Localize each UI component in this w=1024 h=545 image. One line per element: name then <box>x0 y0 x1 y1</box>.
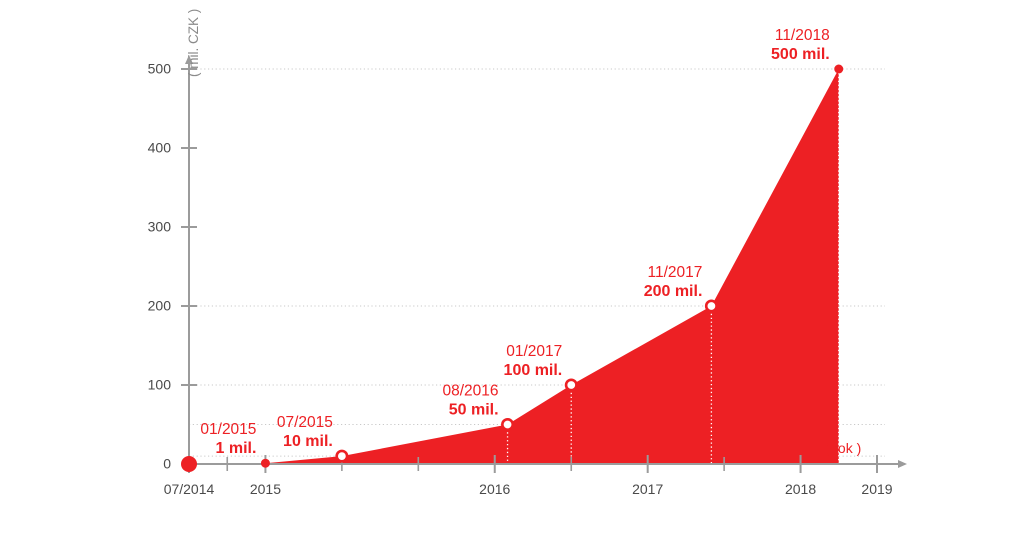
x-tick-label-2015: 2015 <box>250 481 281 497</box>
point-label-value-11-2018: 500 mil. <box>771 46 830 63</box>
data-point-01-2015[interactable] <box>261 459 270 468</box>
point-label-value-07-2015: 10 mil. <box>283 433 333 450</box>
point-label-value-11-2017: 200 mil. <box>644 283 703 300</box>
point-label-value-08-2016: 50 mil. <box>449 402 499 419</box>
revenue-growth-chart: 0100200300400500 07/20142015201620172018… <box>0 0 1024 545</box>
y-tick-label-200: 200 <box>148 298 172 314</box>
x-tick-label-2016: 2016 <box>479 481 510 497</box>
x-axis-arrow-icon <box>898 460 907 468</box>
data-point-07-2014[interactable] <box>181 456 197 472</box>
point-label-date-11-2018: 11/2018 <box>775 27 830 44</box>
y-tick-label-500: 500 <box>148 61 172 77</box>
y-tick-label-300: 300 <box>148 219 172 235</box>
x-axis-title: ( rok ) <box>825 440 862 456</box>
data-point-01-2017[interactable] <box>566 380 576 390</box>
y-tick-label-100: 100 <box>148 377 172 393</box>
data-point-11-2017[interactable] <box>706 301 716 311</box>
data-point-11-2018[interactable] <box>834 65 843 74</box>
point-label-value-01-2017: 100 mil. <box>504 362 563 379</box>
point-label-date-01-2015: 01/2015 <box>200 421 256 438</box>
y-tick-label-0: 0 <box>163 456 171 472</box>
y-tick-label-400: 400 <box>148 140 172 156</box>
area-series-fill <box>189 69 839 464</box>
point-label-date-07-2015: 07/2015 <box>277 414 333 431</box>
x-tick-label-07-2014: 07/2014 <box>164 481 215 497</box>
chart-canvas: 0100200300400500 07/20142015201620172018… <box>0 0 1024 545</box>
x-tick-label-2017: 2017 <box>632 481 663 497</box>
x-tick-label-2019: 2019 <box>861 481 892 497</box>
y-axis-title: ( mil. CZK ) <box>186 9 201 77</box>
point-label-date-08-2016: 08/2016 <box>443 383 499 400</box>
x-tick-label-2018: 2018 <box>785 481 816 497</box>
point-label-date-11-2017: 11/2017 <box>648 264 703 281</box>
point-label-date-01-2017: 01/2017 <box>506 343 562 360</box>
data-point-08-2016[interactable] <box>502 419 512 429</box>
data-point-07-2015[interactable] <box>337 451 347 461</box>
point-label-value-01-2015: 1 mil. <box>216 440 257 457</box>
